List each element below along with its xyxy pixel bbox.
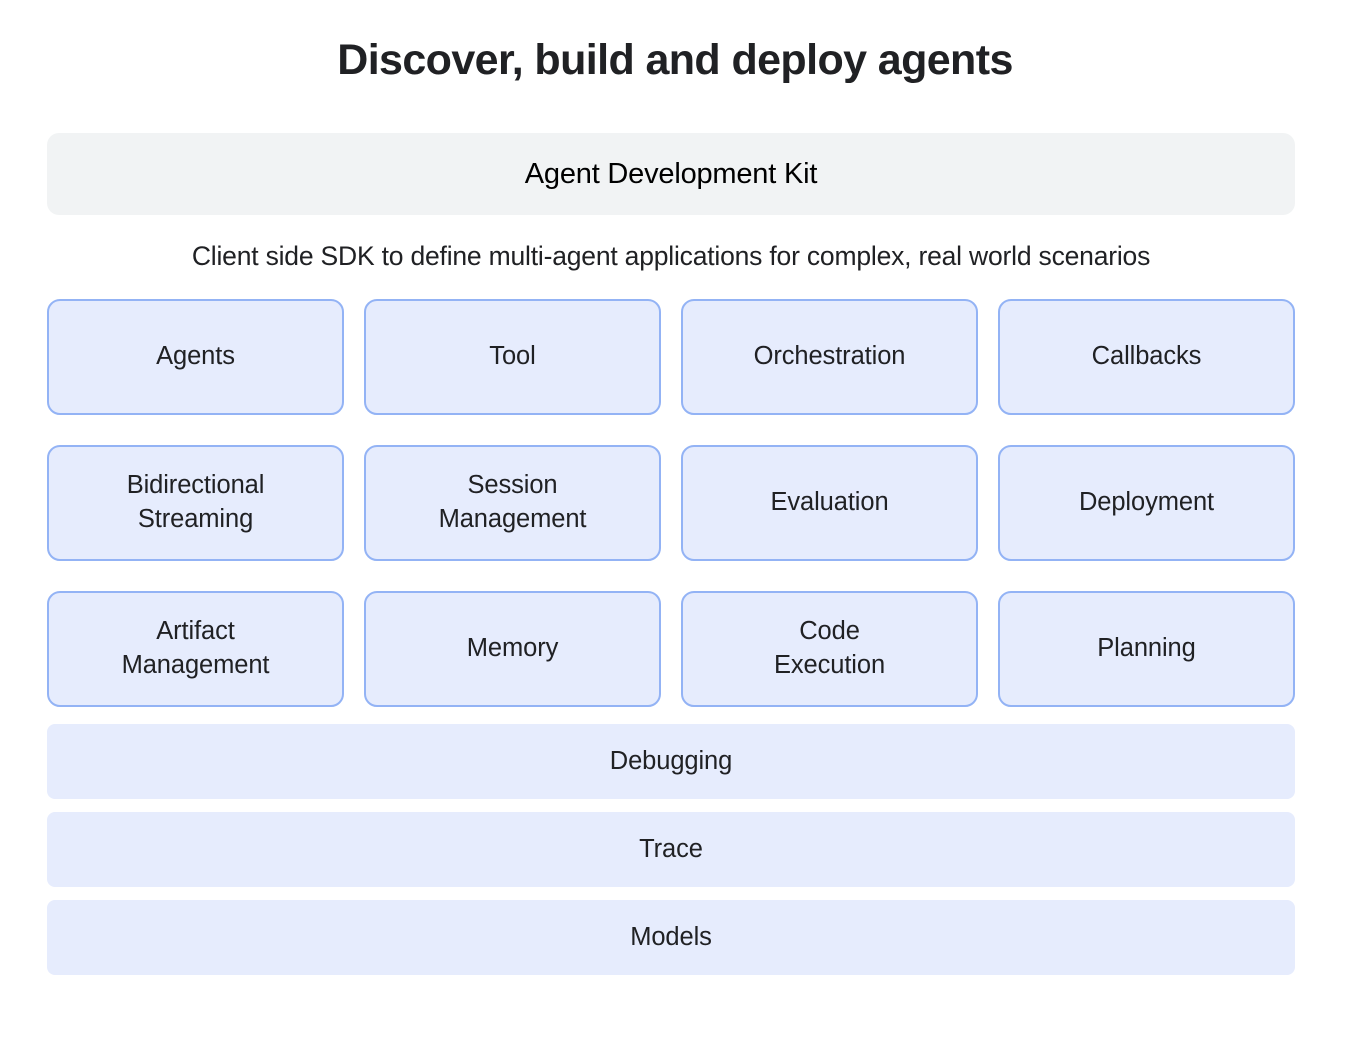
feature-bar-trace[interactable]: Trace — [47, 812, 1295, 887]
feature-card-label: Planning — [1097, 632, 1195, 666]
adk-overview-diagram: Discover, build and deploy agents Agent … — [0, 0, 1350, 1060]
feature-card-orchestration[interactable]: Orchestration — [681, 299, 978, 415]
feature-card-label: Evaluation — [770, 486, 888, 520]
feature-bar-debugging[interactable]: Debugging — [47, 724, 1295, 799]
feature-card-label: Tool — [489, 340, 535, 374]
feature-card-label: Deployment — [1079, 486, 1214, 520]
feature-bar-models[interactable]: Models — [47, 900, 1295, 975]
feature-card-label: Artifact Management — [122, 615, 270, 682]
feature-card-grid: Agents Tool Orchestration Callbacks Bidi… — [47, 299, 1295, 707]
feature-card-deployment[interactable]: Deployment — [998, 445, 1295, 561]
kit-subtitle: Client side SDK to define multi-agent ap… — [47, 215, 1295, 273]
feature-card-label: Memory — [467, 632, 559, 666]
agent-development-kit-label: Agent Development Kit — [525, 158, 817, 191]
feature-card-label: Agents — [156, 340, 235, 374]
feature-card-code-execution[interactable]: Code Execution — [681, 591, 978, 707]
page-title: Discover, build and deploy agents — [0, 0, 1350, 85]
feature-card-artifact-management[interactable]: Artifact Management — [47, 591, 344, 707]
feature-card-memory[interactable]: Memory — [364, 591, 661, 707]
feature-bar-label: Models — [630, 923, 712, 952]
feature-card-session-management[interactable]: Session Management — [364, 445, 661, 561]
feature-card-label: Orchestration — [754, 340, 906, 374]
feature-card-label: Callbacks — [1092, 340, 1202, 374]
feature-card-label: Session Management — [439, 469, 587, 536]
feature-bar-label: Trace — [639, 835, 703, 864]
feature-card-agents[interactable]: Agents — [47, 299, 344, 415]
feature-card-callbacks[interactable]: Callbacks — [998, 299, 1295, 415]
feature-card-label: Code Execution — [774, 615, 885, 682]
feature-card-bidirectional-streaming[interactable]: Bidirectional Streaming — [47, 445, 344, 561]
feature-card-tool[interactable]: Tool — [364, 299, 661, 415]
diagram-container: Agent Development Kit Client side SDK to… — [47, 133, 1295, 975]
agent-development-kit-header: Agent Development Kit — [47, 133, 1295, 215]
feature-card-planning[interactable]: Planning — [998, 591, 1295, 707]
full-width-bar-group: Debugging Trace Models — [47, 724, 1295, 975]
feature-card-evaluation[interactable]: Evaluation — [681, 445, 978, 561]
feature-bar-label: Debugging — [610, 747, 732, 776]
feature-card-label: Bidirectional Streaming — [127, 469, 265, 536]
